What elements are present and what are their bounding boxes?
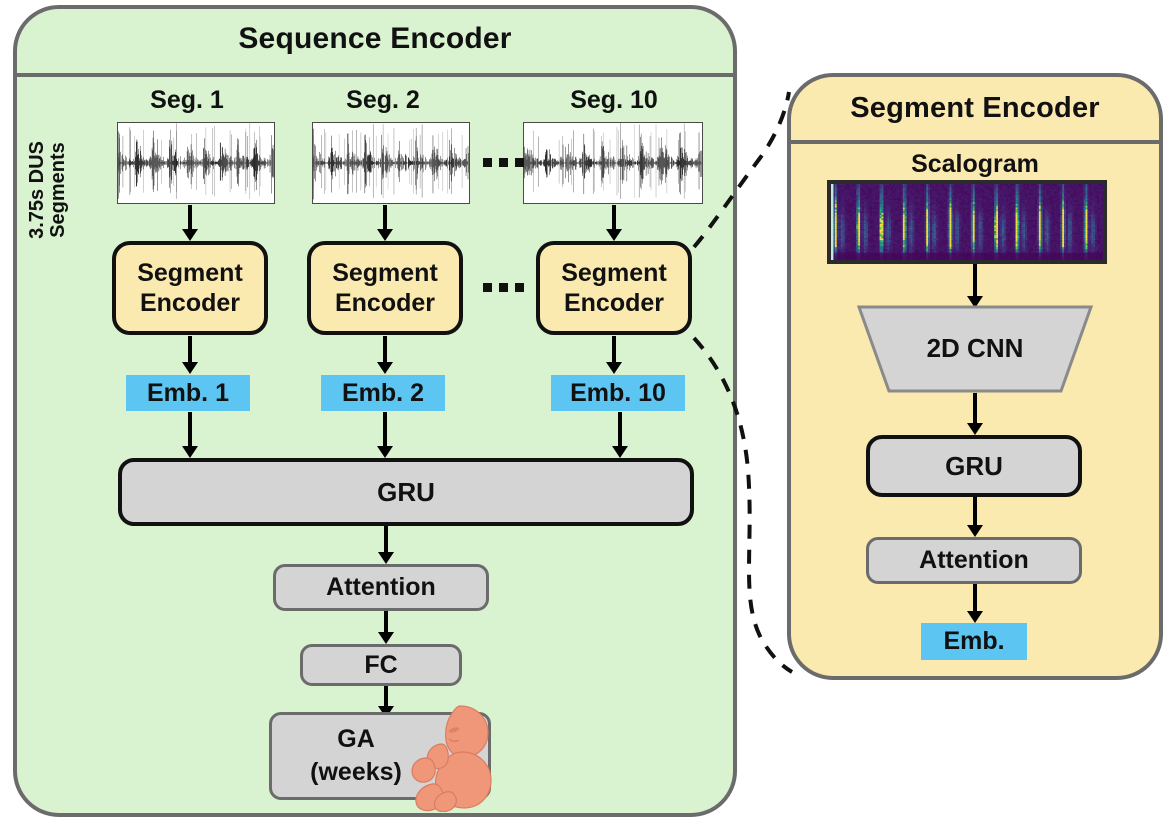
segment-encoder-node-1-line1: Segment bbox=[137, 259, 243, 287]
arrow-emb10-to-gru bbox=[610, 412, 630, 458]
segment-encoder-node-2-line2: Encoder bbox=[335, 289, 435, 317]
segment-header-1: Seg. 1 bbox=[107, 86, 267, 115]
waveform-segment-10 bbox=[523, 122, 703, 204]
sequence-fc-node[interactable]: FC bbox=[300, 644, 462, 686]
arrow-gru-to-attention-right bbox=[965, 497, 985, 537]
arrow-wave10-to-encoder10 bbox=[604, 205, 624, 241]
sequence-gru-node[interactable]: GRU bbox=[118, 458, 694, 526]
embedding-1: Emb. 1 bbox=[126, 375, 250, 411]
arrow-encoder10-to-emb10 bbox=[604, 336, 624, 374]
arrow-gru-to-attention bbox=[376, 526, 396, 564]
segment-encoder-node-2-line1: Segment bbox=[332, 259, 438, 287]
arrow-wave1-to-encoder1 bbox=[180, 205, 200, 241]
embedding-2: Emb. 2 bbox=[321, 375, 445, 411]
ga-output-line1: GA bbox=[337, 725, 375, 753]
waveform-ellipsis bbox=[483, 158, 524, 167]
segment-header-2: Seg. 2 bbox=[303, 86, 463, 115]
arrow-encoder2-to-emb2 bbox=[375, 336, 395, 374]
segment-encoder-node-1[interactable]: Segment Encoder bbox=[112, 241, 268, 335]
segment-encoder-node-10-line1: Segment bbox=[561, 259, 667, 287]
encoder-ellipsis bbox=[483, 283, 524, 292]
embedding-10: Emb. 10 bbox=[551, 375, 685, 411]
dus-label-line1: 3.75s DUS bbox=[26, 141, 48, 239]
scalogram-label: Scalogram bbox=[787, 150, 1163, 179]
segment-encoder-node-2[interactable]: Segment Encoder bbox=[307, 241, 463, 335]
waveform-segment-2 bbox=[312, 122, 470, 204]
arrow-attention-to-emb-right bbox=[965, 584, 985, 623]
sequence-attention-node[interactable]: Attention bbox=[273, 564, 489, 611]
segment-encoder-node-1-line2: Encoder bbox=[140, 289, 240, 317]
arrow-wave2-to-encoder2 bbox=[375, 205, 395, 241]
arrow-emb1-to-gru bbox=[180, 412, 200, 458]
waveform-segment-1 bbox=[117, 122, 275, 204]
dus-segments-side-label: 3.75s DUS Segments bbox=[27, 110, 67, 270]
segment-gru-node[interactable]: GRU bbox=[866, 435, 1082, 497]
segment-attention-node[interactable]: Attention bbox=[866, 537, 1082, 584]
segment-header-10: Seg. 10 bbox=[534, 86, 694, 115]
arrow-scalogram-to-cnn bbox=[965, 264, 985, 308]
scalogram-image bbox=[827, 180, 1107, 264]
segment-encoder-title-divider bbox=[787, 140, 1163, 144]
cnn-label: 2D CNN bbox=[855, 333, 1095, 364]
dus-label-line2: Segments bbox=[47, 142, 69, 238]
segment-embedding: Emb. bbox=[921, 623, 1027, 660]
fetus-icon bbox=[402, 700, 498, 812]
segment-encoder-title: Segment Encoder bbox=[787, 92, 1163, 125]
sequence-encoder-title-divider bbox=[13, 73, 737, 77]
arrow-attention-to-fc bbox=[376, 611, 396, 644]
segment-encoder-node-10[interactable]: Segment Encoder bbox=[536, 241, 692, 335]
arrow-encoder1-to-emb1 bbox=[180, 336, 200, 374]
sequence-encoder-title: Sequence Encoder bbox=[13, 22, 737, 56]
ga-output-line2: (weeks) bbox=[310, 758, 402, 786]
segment-encoder-node-10-line2: Encoder bbox=[564, 289, 664, 317]
arrow-emb2-to-gru bbox=[375, 412, 395, 458]
arrow-cnn-to-gru bbox=[965, 393, 985, 435]
